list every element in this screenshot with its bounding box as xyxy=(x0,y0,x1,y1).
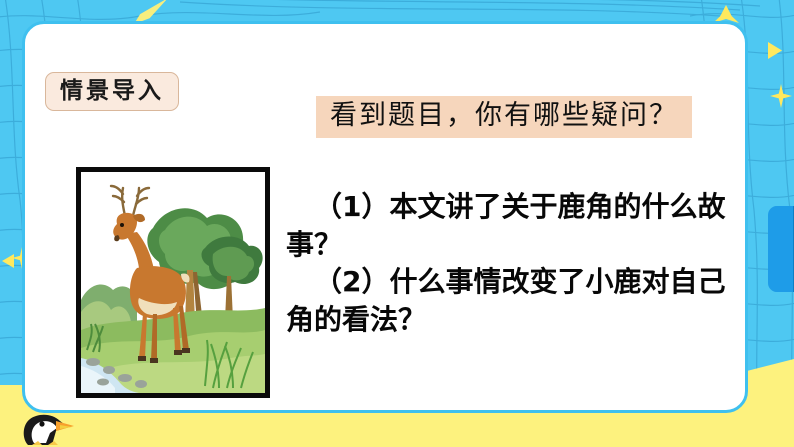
deer-illustration xyxy=(81,172,265,393)
slide-canvas: 情景导入 看到题目，你有哪些疑问？ xyxy=(0,0,794,447)
question-item-1: （1）本文讲了关于鹿角的什么故事？ xyxy=(286,188,746,263)
page-title: 看到题目，你有哪些疑问？ xyxy=(316,96,692,138)
side-tab-decoration xyxy=(768,206,794,292)
question-list: （1）本文讲了关于鹿角的什么故事？ （2）什么事情改变了小鹿对自己角的看法？ xyxy=(286,188,746,338)
question-item-2: （2）什么事情改变了小鹿对自己角的看法？ xyxy=(286,263,746,338)
illustration-frame xyxy=(76,167,270,398)
section-label: 情景导入 xyxy=(45,72,179,111)
